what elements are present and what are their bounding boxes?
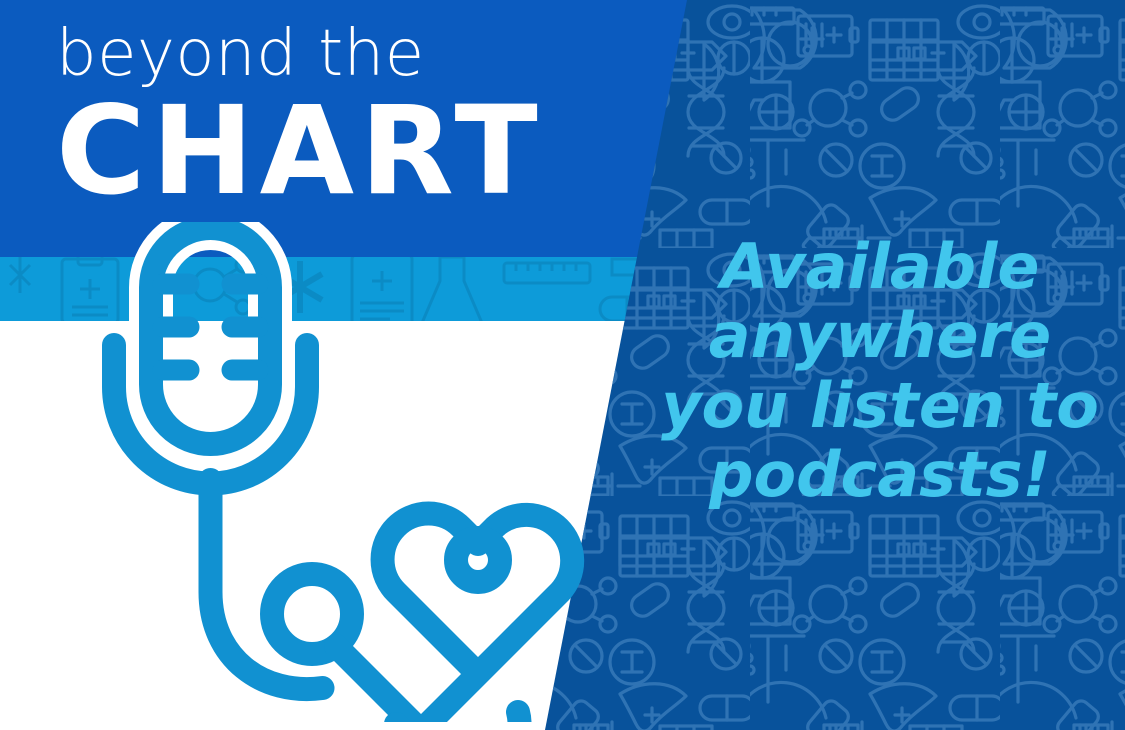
heart-notch-detail [456,538,500,582]
headline-block: beyond the CHART [0,0,640,212]
tagline-line-3: you listen to [660,371,1100,440]
podcast-promo-card: beyond the CHART [0,0,1125,730]
tagline-line-4: podcasts! [660,440,1100,509]
tagline-block: Available anywhere you listen to podcast… [660,232,1100,510]
title-line-chart: CHART [56,90,640,212]
tagline-line-2: anywhere [660,301,1100,370]
tagline-line-1: Available [660,232,1100,301]
title-line-beyond-the: beyond the [56,22,640,86]
podcast-microphone-stethoscope-heart-logo [100,222,590,722]
